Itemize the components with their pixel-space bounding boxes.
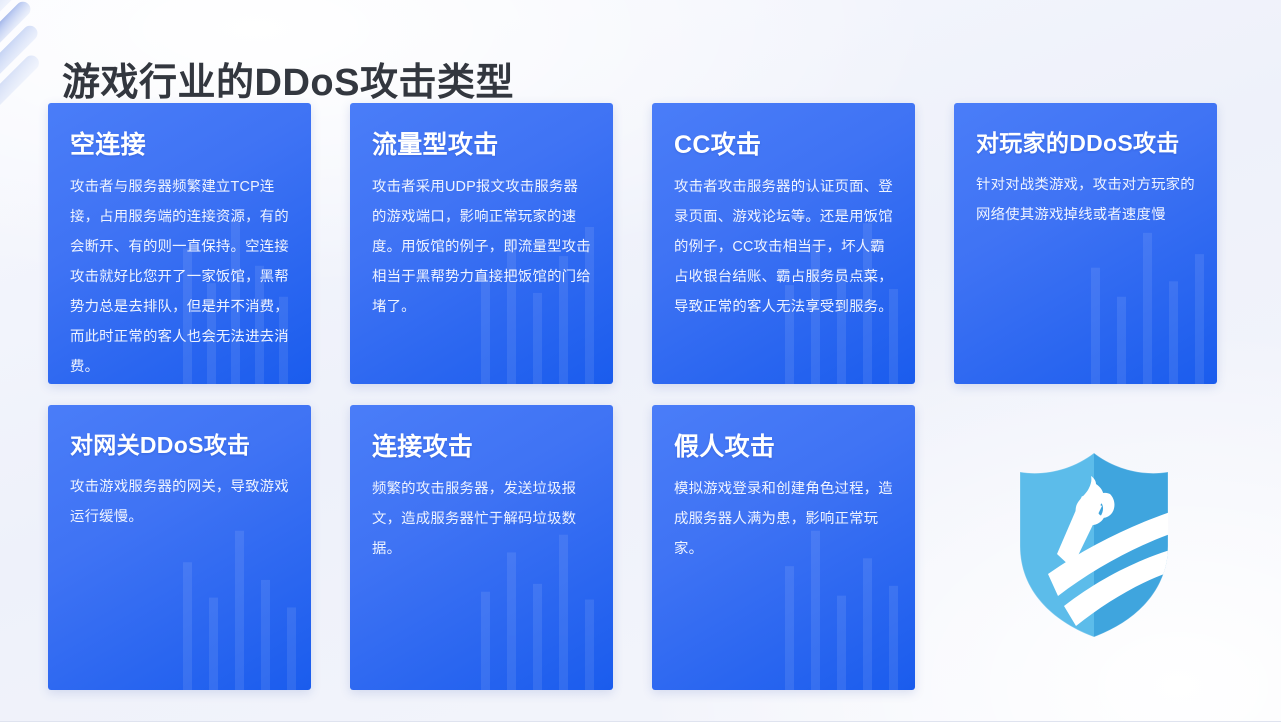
card-cc-attack[interactable]: CC攻击 攻击者攻击服务器的认证页面、登录页面、游戏论坛等。还是用饭馆的例子，C… (652, 103, 915, 384)
card-body: 攻击者与服务器频繁建立TCP连接，占用服务端的连接资源，有的会断开、有的则一直保… (70, 172, 289, 382)
card-body: 频繁的攻击服务器，发送垃圾报文，造成服务器忙于解码垃圾数据。 (372, 474, 591, 564)
card-title: 假人攻击 (674, 433, 893, 461)
card-row-1: 空连接 攻击者与服务器频繁建立TCP连接，占用服务端的连接资源，有的会断开、有的… (48, 103, 1220, 384)
card-connection-attack[interactable]: 连接攻击 频繁的攻击服务器，发送垃圾报文，造成服务器忙于解码垃圾数据。 (350, 405, 613, 690)
card-title: 对玩家的DDoS攻击 (976, 131, 1195, 157)
card-traffic-attack[interactable]: 流量型攻击 攻击者采用UDP报文攻击服务器的游戏端口，影响正常玩家的速度。用饭馆… (350, 103, 613, 384)
card-title: 流量型攻击 (372, 131, 591, 159)
page-title: 游戏行业的DDoS攻击类型 (62, 51, 514, 106)
shield-torch-logo-icon (1010, 450, 1178, 640)
card-body: 攻击者采用UDP报文攻击服务器的游戏端口，影响正常玩家的速度。用饭馆的例子，即流… (372, 172, 591, 322)
card-player-ddos[interactable]: 对玩家的DDoS攻击 针对对战类游戏，攻击对方玩家的网络使其游戏掉线或者速度慢 (954, 103, 1217, 384)
card-fake-player-attack[interactable]: 假人攻击 模拟游戏登录和创建角色过程，造成服务器人满为患，影响正常玩家。 (652, 405, 915, 690)
card-body: 针对对战类游戏，攻击对方玩家的网络使其游戏掉线或者速度慢 (976, 170, 1195, 230)
card-body: 模拟游戏登录和创建角色过程，造成服务器人满为患，影响正常玩家。 (674, 474, 893, 564)
card-gateway-ddos[interactable]: 对网关DDoS攻击 攻击游戏服务器的网关，导致游戏运行缓慢。 (48, 405, 311, 690)
card-empty-connection[interactable]: 空连接 攻击者与服务器频繁建立TCP连接，占用服务端的连接资源，有的会断开、有的… (48, 103, 311, 384)
card-title: 空连接 (70, 131, 289, 159)
card-body: 攻击者攻击服务器的认证页面、登录页面、游戏论坛等。还是用饭馆的例子，CC攻击相当… (674, 172, 893, 322)
card-title: 连接攻击 (372, 433, 591, 461)
card-body: 攻击游戏服务器的网关，导致游戏运行缓慢。 (70, 472, 289, 532)
card-title: 对网关DDoS攻击 (70, 433, 289, 459)
card-title: CC攻击 (674, 131, 893, 159)
